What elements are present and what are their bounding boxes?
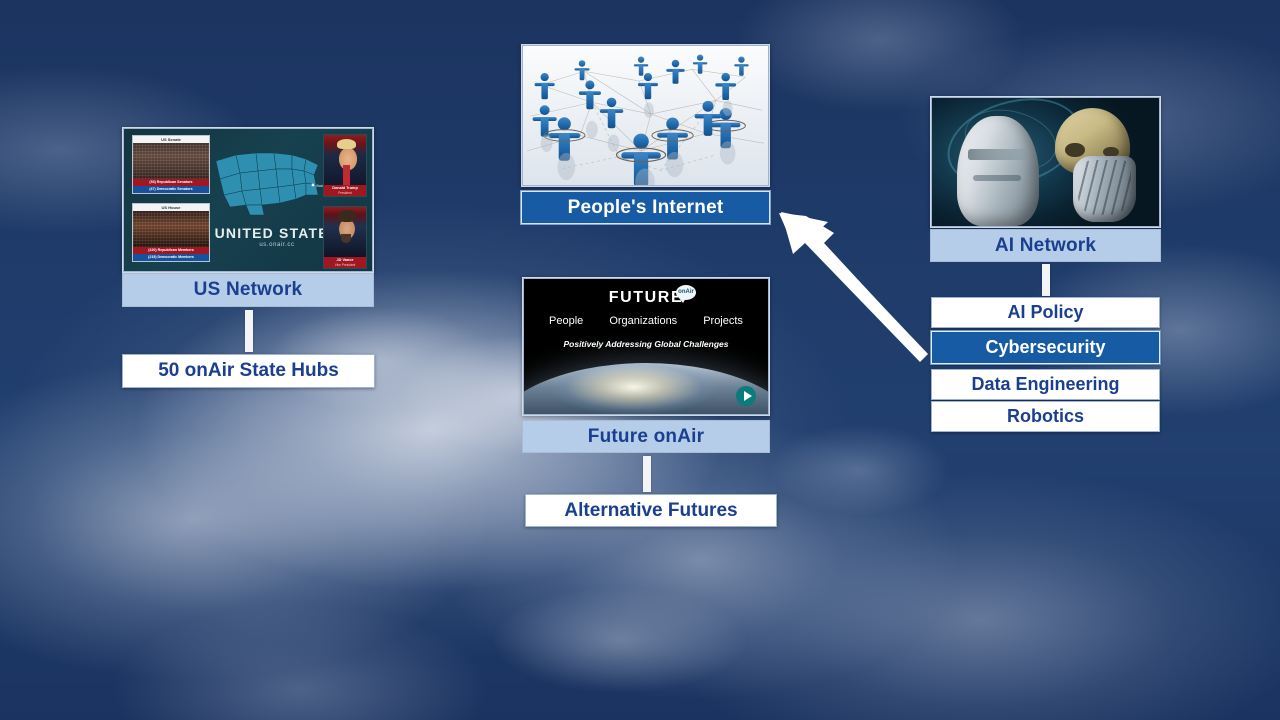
future-nav-people[interactable]: People	[549, 315, 583, 327]
peoples-internet-thumbnail	[522, 45, 769, 186]
label-50-onair-state-hubs[interactable]: 50 onAir State Hubs	[122, 354, 375, 388]
portrait-president: Donald Trump President	[323, 134, 367, 197]
node-label-us-network[interactable]: US Network	[122, 273, 374, 307]
future-nav-projects[interactable]: Projects	[703, 315, 743, 327]
label-alternative-futures[interactable]: Alternative Futures	[525, 494, 777, 527]
node-label-ai-network[interactable]: AI Network	[930, 229, 1161, 262]
us-senate-republican-tag: (53) Republican Senators	[133, 179, 209, 186]
us-house-democratic-tag: (215) Democratic Members	[133, 254, 209, 261]
future-nav: People Organizations Projects	[524, 315, 768, 327]
earth-horizon-graphic	[523, 363, 769, 415]
president-photo	[324, 135, 366, 185]
play-icon[interactable]	[736, 386, 756, 406]
android-head-graphic	[957, 116, 1039, 226]
robot-hand-graphic	[1073, 156, 1137, 223]
people-network-graphic	[523, 46, 768, 185]
us-senate-panel: US Senate (53) Republican Senators (47) …	[132, 135, 210, 194]
future-nav-organizations[interactable]: Organizations	[609, 315, 677, 327]
connector-us-network-to-state-hubs	[245, 310, 253, 352]
future-onair-thumbnail: FUTURE onAir People Organizations Projec…	[523, 278, 769, 415]
node-ai-network[interactable]	[930, 96, 1161, 228]
node-peoples-internet[interactable]	[521, 44, 770, 187]
us-house-republican-tag: (220) Republican Members	[133, 247, 209, 254]
onair-logo-icon-future: onAir	[676, 285, 696, 300]
future-tagline: Positively Addressing Global Challenges	[524, 339, 768, 349]
menu-item-data-engineering[interactable]: Data Engineering	[931, 369, 1160, 400]
connector-ai-network-to-ai-policy	[1042, 264, 1050, 296]
president-role: President	[324, 191, 366, 196]
node-label-future-onair[interactable]: Future onAir	[522, 420, 770, 453]
united-states-map-icon: Washington, D.C.	[212, 145, 332, 219]
us-house-photo	[133, 211, 209, 247]
node-us-network[interactable]: US Senate (53) Republican Senators (47) …	[122, 127, 374, 273]
us-house-panel: US House (220) Republican Members (215) …	[132, 203, 210, 262]
us-senate-title: US Senate	[133, 136, 209, 143]
vice-president-photo	[324, 207, 366, 257]
node-label-peoples-internet[interactable]: People's Internet	[521, 191, 770, 224]
menu-item-robotics[interactable]: Robotics	[931, 401, 1160, 432]
menu-item-ai-policy[interactable]: AI Policy	[931, 297, 1160, 328]
us-senate-photo	[133, 143, 209, 179]
us-house-title: US House	[133, 204, 209, 211]
ai-network-thumbnail	[931, 97, 1160, 227]
us-senate-democratic-tag: (47) Democratic Senators	[133, 186, 209, 193]
node-future-onair[interactable]: FUTURE onAir People Organizations Projec…	[522, 277, 770, 416]
menu-item-cybersecurity[interactable]: Cybersecurity	[931, 331, 1160, 364]
connector-future-onair-to-alternative-futures	[643, 456, 651, 492]
diagram-canvas: US Senate (53) Republican Senators (47) …	[0, 0, 1280, 720]
future-title: FUTURE	[524, 289, 768, 307]
portrait-vice-president: JD Vance Vice President	[323, 206, 367, 269]
vice-president-role: Vice President	[324, 263, 366, 268]
us-network-thumbnail: US Senate (53) Republican Senators (47) …	[123, 128, 373, 272]
